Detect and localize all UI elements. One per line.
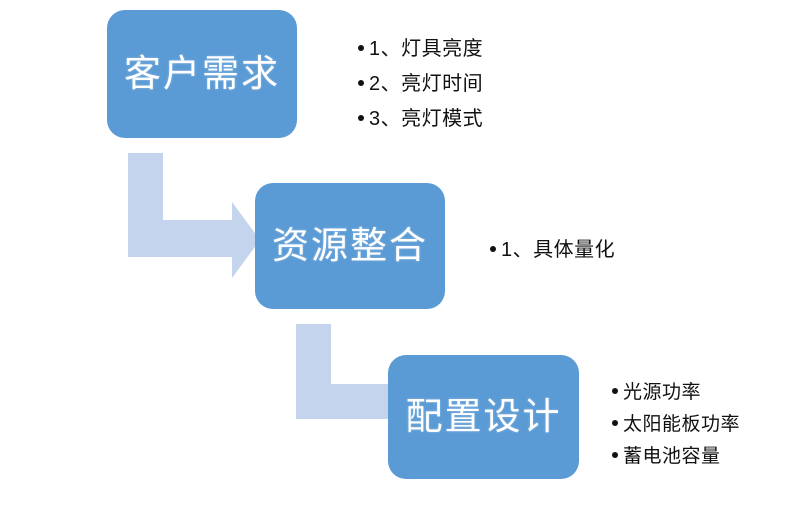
bent-arrow-icon-one [120, 145, 265, 280]
list-item-label: 2、亮灯时间 [369, 67, 483, 96]
bullet-list-customer-requirement: 1、灯具亮度 2、亮灯时间 3、亮灯模式 [358, 32, 483, 137]
list-item-label: 3、亮灯模式 [369, 102, 483, 131]
bullet-dot-icon [358, 80, 364, 86]
list-item: 1、具体量化 [490, 233, 615, 262]
list-item: 光源功率 [612, 377, 740, 404]
list-item: 1、灯具亮度 [358, 32, 483, 61]
list-item-label: 光源功率 [623, 377, 701, 404]
list-item: 蓄电池容量 [612, 441, 740, 468]
bullet-dot-icon [612, 420, 618, 426]
list-item-label: 太阳能板功率 [623, 409, 740, 436]
bullet-dot-icon [612, 452, 618, 458]
bent-arrow-svg [120, 145, 265, 280]
bent-arrow-path-one [128, 153, 260, 278]
list-item: 3、亮灯模式 [358, 102, 483, 131]
bullet-dot-icon [358, 45, 364, 51]
list-item: 2、亮灯时间 [358, 67, 483, 96]
bullet-list-resource-integration: 1、具体量化 [490, 233, 615, 262]
process-box-label: 配置设计 [394, 395, 574, 439]
diagram-canvas: 客户需求 资源整合 配置设计 1、灯具亮度 2、亮灯时间 3、亮灯模式 1、具体… [0, 0, 805, 506]
list-item-label: 蓄电池容量 [623, 441, 721, 468]
bullet-dot-icon [612, 388, 618, 394]
process-box-configuration-design[interactable]: 配置设计 [388, 355, 579, 479]
list-item-label: 1、灯具亮度 [369, 32, 483, 61]
process-box-resource-integration[interactable]: 资源整合 [255, 183, 445, 309]
process-box-customer-requirement[interactable]: 客户需求 [107, 10, 297, 138]
process-box-label: 客户需求 [112, 52, 292, 96]
bullet-dot-icon [358, 115, 364, 121]
list-item: 太阳能板功率 [612, 409, 740, 436]
list-item-label: 1、具体量化 [501, 233, 615, 262]
bullet-list-configuration-design: 光源功率 太阳能板功率 蓄电池容量 [612, 377, 740, 473]
process-box-label: 资源整合 [260, 224, 440, 268]
bullet-dot-icon [490, 246, 496, 252]
